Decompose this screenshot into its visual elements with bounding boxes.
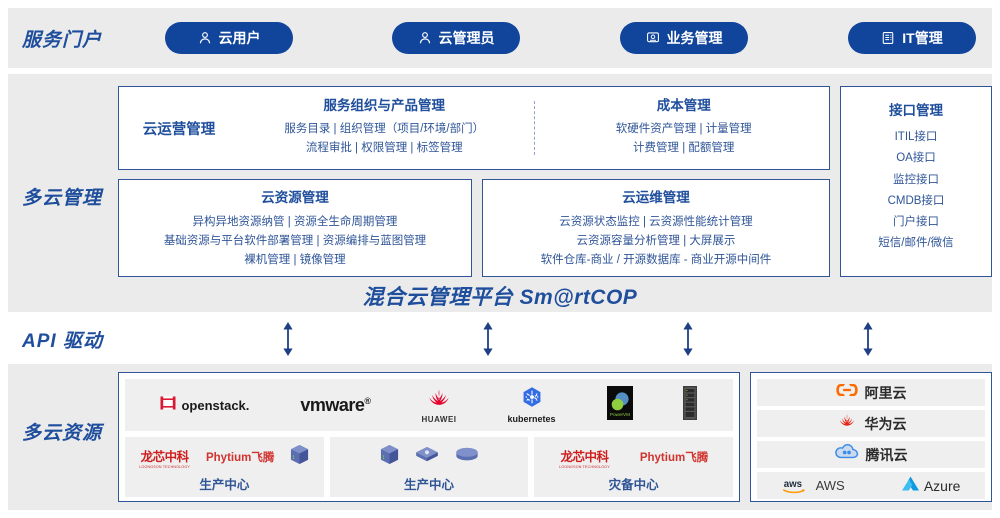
public-cloud-label: 华为云 [865, 414, 907, 434]
box-title: 云运维管理 [483, 190, 829, 207]
public-cloud-label: Azure [924, 478, 961, 494]
tencent-cloud-icon [835, 444, 859, 466]
public-cloud-tencent[interactable]: 腾讯云 [757, 441, 985, 468]
datacenter-label: 灾备中心 [609, 474, 659, 493]
box-line: 云资源状态监控 | 云资源性能统计管理 [483, 213, 829, 232]
portal-button-it-management[interactable]: IT管理 [848, 22, 976, 54]
public-cloud-aws-azure-row: aws AWS Azure [757, 472, 985, 499]
group-title: 服务组织与产品管理 [245, 98, 524, 115]
switch-icon [415, 446, 439, 469]
public-cloud-aws[interactable]: aws AWS [782, 477, 845, 495]
bidirectional-arrow-icon [680, 320, 696, 363]
vendor-label: openstack. [181, 398, 249, 413]
powervm-icon: PowerVM [607, 407, 633, 424]
portal-button-label: 云管理员 [439, 28, 495, 48]
vendor-kubernetes[interactable]: kubernetes [508, 386, 556, 424]
datacenter-cell-disaster-recovery[interactable]: 龙芯中科 LOONGSON TECHNOLOGY Phytium飞腾 灾备中心 [534, 437, 733, 497]
svg-text:aws: aws [783, 478, 801, 489]
storage-disk-icon [455, 447, 479, 468]
svg-text:PowerVM: PowerVM [610, 412, 630, 417]
alibaba-cloud-icon [836, 382, 858, 403]
monitor-icon [646, 31, 660, 45]
rail-label-portal: 服务门户 [22, 25, 102, 52]
huawei-logo [423, 387, 455, 414]
bidirectional-arrow-icon [860, 320, 876, 363]
interface-item[interactable]: ITIL接口 [841, 127, 991, 148]
chip-label: 龙芯中科 [141, 446, 189, 465]
group-title: 成本管理 [545, 98, 824, 115]
vendor-label: kubernetes [508, 414, 556, 424]
public-cloud-alibaba[interactable]: 阿里云 [757, 379, 985, 406]
registered-mark: ® [364, 396, 370, 406]
azure-icon [901, 475, 920, 497]
portal-button-cloud-user[interactable]: 云用户 [165, 22, 293, 54]
cloud-operation-management-box[interactable]: 云运营管理 服务组织与产品管理 服务目录 | 组织管理（项目/环境/部门） 流程… [118, 86, 830, 170]
server-rack-icon [683, 407, 697, 424]
chip-vendor-phytium: Phytium飞腾 [640, 449, 708, 465]
vendor-openstack[interactable]: openstack. [160, 395, 249, 416]
cloud-operation-management-label: 云运营管理 [119, 118, 239, 139]
platform-title: 混合云管理平台 Sm@rtCOP [0, 281, 1000, 311]
service-org-product-management-group[interactable]: 服务组织与产品管理 服务目录 | 组织管理（项目/环境/部门） 流程审批 | 权… [239, 98, 530, 159]
chip-vendor-loongson: 龙芯中科 LOONGSON TECHNOLOGY [559, 446, 610, 469]
aws-icon: aws [782, 477, 812, 495]
user-icon [198, 31, 212, 45]
group-line: 服务目录 | 组织管理（项目/环境/部门） [245, 120, 524, 139]
private-cloud-resources-box[interactable]: openstack. vmware® HUAWEI kubernetes [118, 372, 740, 502]
portal-button-label: 云用户 [219, 28, 261, 48]
vendor-logo-row: openstack. vmware® HUAWEI kubernetes [125, 379, 733, 431]
interface-item[interactable]: 短信/邮件/微信 [841, 233, 991, 254]
bidirectional-arrow-icon [280, 320, 296, 363]
box-line: 裸机管理 | 镜像管理 [119, 251, 471, 270]
public-cloud-label: 腾讯云 [866, 445, 908, 465]
cost-management-group[interactable]: 成本管理 软硬件资产管理 | 计量管理 计费管理 | 配额管理 [539, 98, 830, 159]
group-line: 软硬件资产管理 | 计量管理 [545, 120, 824, 139]
box-line: 云资源容量分析管理 | 大屏展示 [483, 232, 829, 251]
box-line: 基础资源与平台软件部署管理 | 资源编排与蓝图管理 [119, 232, 471, 251]
group-line: 流程审批 | 权限管理 | 标签管理 [245, 139, 524, 158]
vendor-label: vmware [300, 395, 364, 415]
dashed-divider [534, 101, 535, 155]
vendor-powervm[interactable]: PowerVM [607, 386, 633, 425]
user-icon [418, 31, 432, 45]
portal-button-label: 业务管理 [667, 28, 723, 48]
api-driven-band [8, 312, 992, 364]
cloud-resource-management-box[interactable]: 云资源管理 异构异地资源纳管 | 资源全生命周期管理 基础资源与平台软件部署管理… [118, 179, 472, 277]
box-line: 异构异地资源纳管 | 资源全生命周期管理 [119, 213, 471, 232]
kubernetes-icon [521, 386, 543, 413]
chip-vendor-loongson: 龙芯中科 LOONGSON TECHNOLOGY [139, 446, 190, 469]
chip-sublabel: LOONGSON TECHNOLOGY [559, 465, 610, 469]
huawei-cloud-icon [836, 413, 858, 435]
box-title: 接口管理 [841, 99, 991, 119]
public-cloud-huawei[interactable]: 华为云 [757, 410, 985, 437]
public-cloud-label: 阿里云 [865, 383, 907, 403]
datacenter-cell-production-1[interactable]: 龙芯中科 LOONGSON TECHNOLOGY Phytium飞腾 生产中心 [125, 437, 324, 497]
cloud-om-management-box[interactable]: 云运维管理 云资源状态监控 | 云资源性能统计管理 云资源容量分析管理 | 大屏… [482, 179, 830, 277]
interface-item[interactable]: 门户接口 [841, 212, 991, 233]
portal-button-label: IT管理 [902, 28, 942, 48]
rail-label-api-driven: API 驱动 [22, 326, 103, 353]
datacenter-label: 生产中心 [199, 474, 249, 493]
rail-label-multicloud-resource: 多云资源 [22, 418, 102, 445]
box-line: 软件仓库-商业 / 开源数据库 - 商业开源中间件 [483, 251, 829, 270]
interface-management-box[interactable]: 接口管理 ITIL接口 OA接口 监控接口 CMDB接口 门户接口 短信/邮件/… [840, 86, 992, 277]
group-line: 计费管理 | 配额管理 [545, 139, 824, 158]
vendor-vmware[interactable]: vmware® [300, 395, 370, 416]
vendor-server-rack[interactable] [683, 386, 697, 425]
portal-button-business-management[interactable]: 业务管理 [620, 22, 748, 54]
datacenter-row: 龙芯中科 LOONGSON TECHNOLOGY Phytium飞腾 生产中心 [125, 437, 733, 497]
public-cloud-label: AWS [816, 478, 845, 493]
server-cube-icon [290, 444, 309, 470]
box-title: 云资源管理 [119, 190, 471, 207]
server-icon [881, 31, 895, 45]
public-cloud-azure[interactable]: Azure [901, 475, 961, 497]
interface-item[interactable]: 监控接口 [841, 170, 991, 191]
interface-item[interactable]: CMDB接口 [841, 191, 991, 212]
portal-button-cloud-admin[interactable]: 云管理员 [392, 22, 520, 54]
server-cube-icon [380, 444, 399, 470]
chip-vendor-phytium: Phytium飞腾 [206, 449, 274, 465]
bidirectional-arrow-icon [480, 320, 496, 363]
openstack-icon [160, 395, 176, 416]
chip-sublabel: LOONGSON TECHNOLOGY [139, 465, 190, 469]
architecture-diagram: 服务门户 云用户 云管理员 业务管理 IT管理 多云管理 云运营管理 服务组织与… [0, 0, 1000, 518]
datacenter-cell-production-2[interactable]: 生产中心 [330, 437, 529, 497]
vendor-huawei[interactable]: HUAWEI [422, 387, 457, 424]
vendor-label: HUAWEI [422, 415, 457, 424]
rail-label-multicloud-management: 多云管理 [22, 183, 102, 210]
chip-label: 龙芯中科 [560, 446, 608, 465]
interface-item[interactable]: OA接口 [841, 148, 991, 169]
datacenter-label: 生产中心 [404, 474, 454, 493]
public-cloud-resources-box[interactable]: 阿里云 华为云 腾讯云 aws [750, 372, 992, 502]
